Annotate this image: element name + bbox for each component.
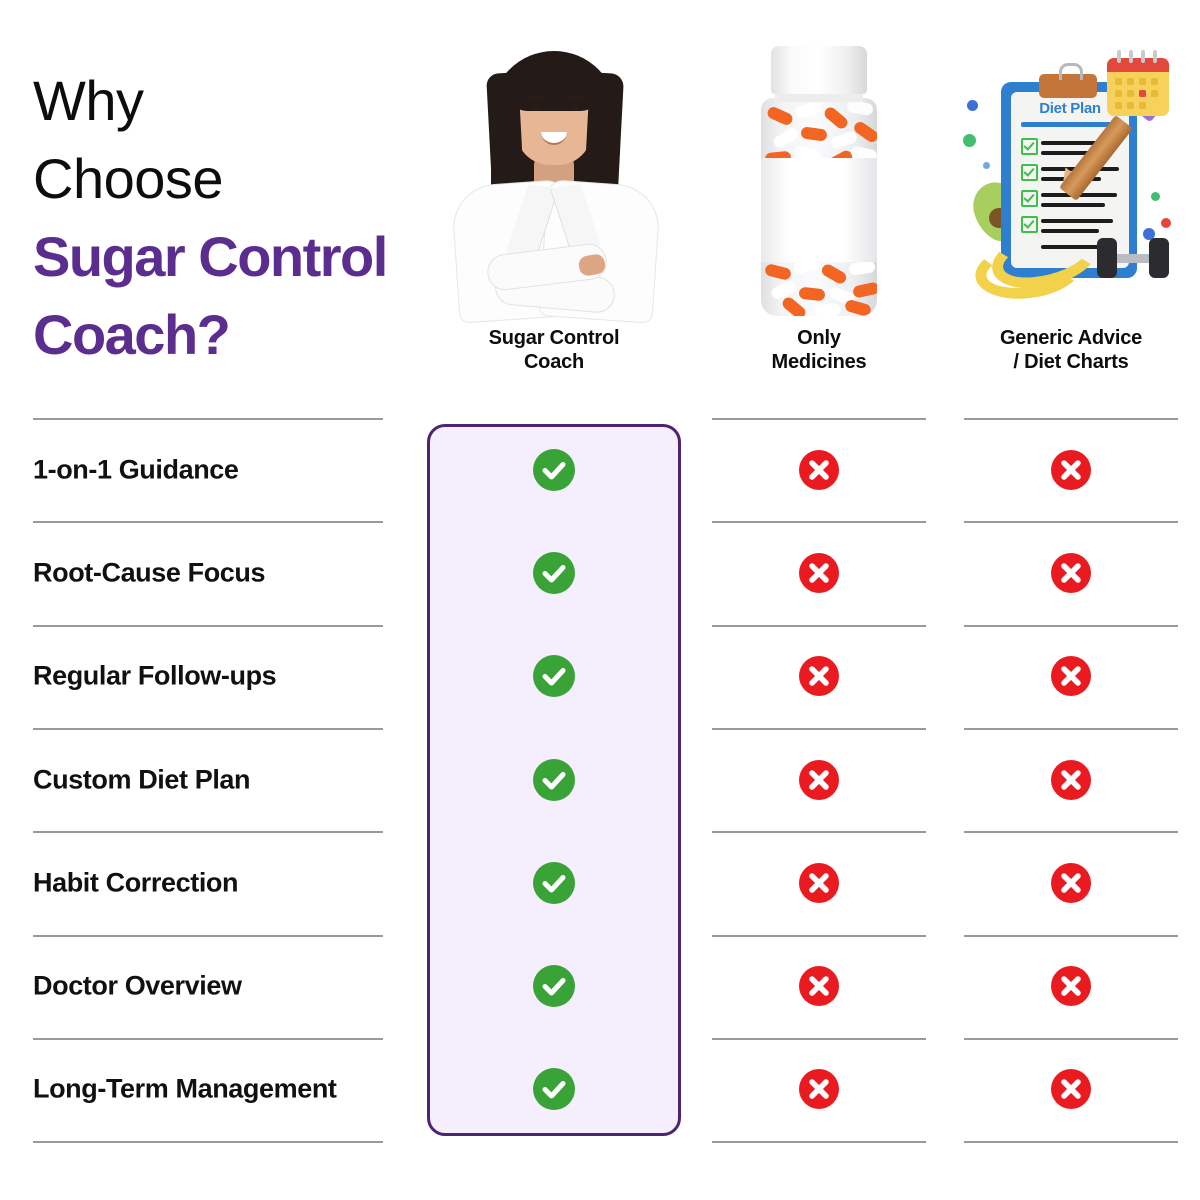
row-separator [712, 521, 926, 523]
cross-circle-icon [799, 760, 839, 800]
feature-label: Habit Correction [33, 867, 433, 898]
cross-circle-icon [799, 1069, 839, 1109]
cross-circle-icon [1051, 450, 1091, 490]
cross-circle-icon [1051, 1069, 1091, 1109]
cross-circle-icon [799, 553, 839, 593]
check-circle-icon [533, 862, 575, 904]
feature-label: Regular Follow-ups [33, 661, 433, 692]
row-separator [33, 935, 383, 937]
row-separator [712, 1038, 926, 1040]
cross-circle-icon [799, 863, 839, 903]
row-separator [964, 625, 1178, 627]
cross-circle-icon [799, 966, 839, 1006]
row-separator [964, 1141, 1178, 1143]
row-separator [964, 831, 1178, 833]
check-circle-icon [533, 965, 575, 1007]
row-separator [964, 418, 1178, 420]
comparison-table: 1-on-1 GuidanceRoot-Cause FocusRegular F… [0, 0, 1200, 1200]
row-separator [964, 728, 1178, 730]
row-separator [712, 625, 926, 627]
check-circle-icon [533, 449, 575, 491]
feature-label: Root-Cause Focus [33, 557, 433, 588]
row-separator [712, 418, 926, 420]
row-separator [712, 1141, 926, 1143]
feature-label: Doctor Overview [33, 971, 433, 1002]
row-separator [33, 418, 383, 420]
cross-circle-icon [799, 656, 839, 696]
row-separator [33, 521, 383, 523]
row-separator [964, 935, 1178, 937]
feature-label: Long-Term Management [33, 1074, 433, 1105]
row-separator [33, 831, 383, 833]
row-separator [712, 728, 926, 730]
row-separator [712, 831, 926, 833]
cross-circle-icon [1051, 863, 1091, 903]
row-separator [33, 1141, 383, 1143]
cross-circle-icon [799, 450, 839, 490]
row-separator [964, 521, 1178, 523]
row-separator [33, 1038, 383, 1040]
row-separator [712, 935, 926, 937]
cross-circle-icon [1051, 760, 1091, 800]
feature-label: Custom Diet Plan [33, 764, 433, 795]
row-separator [33, 728, 383, 730]
check-circle-icon [533, 655, 575, 697]
row-separator [964, 1038, 1178, 1040]
check-circle-icon [533, 552, 575, 594]
check-circle-icon [533, 759, 575, 801]
row-separator [33, 625, 383, 627]
cross-circle-icon [1051, 656, 1091, 696]
check-circle-icon [533, 1068, 575, 1110]
cross-circle-icon [1051, 966, 1091, 1006]
feature-label: 1-on-1 Guidance [33, 454, 433, 485]
cross-circle-icon [1051, 553, 1091, 593]
